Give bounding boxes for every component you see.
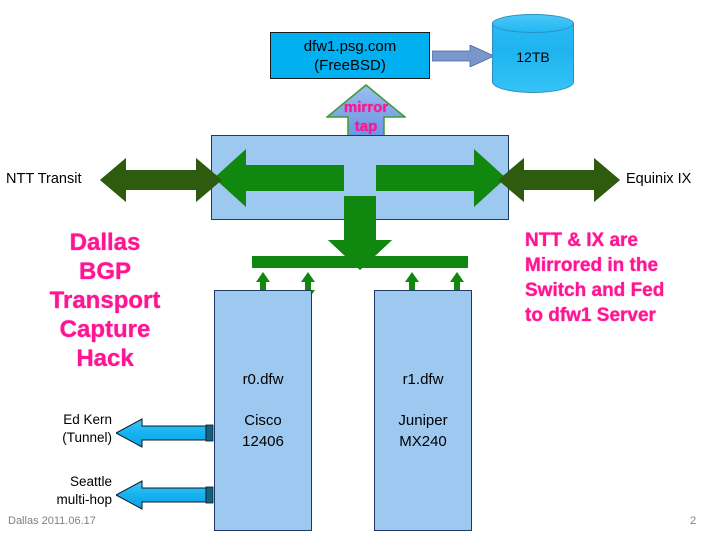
headline-line-4: Capture bbox=[10, 315, 200, 344]
mirror-tap-line1: mirror bbox=[326, 98, 406, 117]
ntt-transit-arrow-icon bbox=[100, 158, 222, 202]
storage-feed-arrow-icon bbox=[432, 45, 494, 67]
router-r0-vendor: Cisco bbox=[244, 410, 282, 431]
storage-cylinder[interactable]: 12TB bbox=[492, 14, 574, 102]
note-mirrored-explanation: NTT & IX are Mirrored in the Switch and … bbox=[525, 228, 719, 328]
footer-page-number: 2 bbox=[690, 515, 696, 527]
slide-canvas: dfw1.psg.com (FreeBSD) 12TB mirror tap N… bbox=[0, 0, 720, 540]
headline-capture-hack: Dallas BGP Transport Capture Hack bbox=[10, 228, 200, 373]
headline-line-5: Hack bbox=[10, 344, 200, 373]
label-seattle-line2: multi-hop bbox=[12, 491, 112, 509]
equinix-ix-arrow-icon bbox=[498, 158, 620, 202]
headline-line-3: Transport bbox=[10, 286, 200, 315]
mirror-tap-line2: tap bbox=[326, 117, 406, 136]
transport-switch-box[interactable] bbox=[211, 135, 509, 220]
label-seattle: Seattle multi-hop bbox=[12, 473, 112, 509]
label-ntt-transit: NTT Transit bbox=[6, 171, 81, 187]
router-r1-vendor: Juniper bbox=[398, 410, 447, 431]
mirror-tap-label: mirror tap bbox=[326, 98, 406, 136]
label-seattle-line1: Seattle bbox=[12, 473, 112, 491]
router-r0-model: 12406 bbox=[242, 431, 284, 452]
note-line-4: to dfw1 Server bbox=[525, 303, 719, 328]
footer-venue-date: Dallas 2011.06.17 bbox=[8, 515, 96, 527]
mirror-distribution-bar bbox=[252, 256, 468, 268]
seattle-multihop-arrow-icon[interactable] bbox=[116, 480, 214, 510]
headline-line-2: BGP bbox=[10, 257, 200, 286]
label-ed-kern-line2: (Tunnel) bbox=[12, 429, 112, 447]
router-r1-model: MX240 bbox=[399, 431, 447, 452]
note-line-2: Mirrored in the bbox=[525, 253, 719, 278]
ed-kern-tunnel-arrow-icon[interactable] bbox=[116, 418, 214, 448]
cylinder-top bbox=[492, 14, 574, 33]
dfw1-hostname: dfw1.psg.com bbox=[304, 37, 397, 56]
note-line-1: NTT & IX are bbox=[525, 228, 719, 253]
label-equinix-ix: Equinix IX bbox=[626, 171, 691, 187]
label-ed-kern: Ed Kern (Tunnel) bbox=[12, 411, 112, 447]
router-r0-name: r0.dfw bbox=[243, 369, 284, 390]
router-r0-box[interactable]: r0.dfw Cisco 12406 bbox=[214, 290, 312, 531]
label-ed-kern-line1: Ed Kern bbox=[12, 411, 112, 429]
router-r1-box[interactable]: r1.dfw Juniper MX240 bbox=[374, 290, 472, 531]
storage-capacity-label: 12TB bbox=[492, 49, 574, 65]
note-line-3: Switch and Fed bbox=[525, 278, 719, 303]
dfw1-os: (FreeBSD) bbox=[314, 56, 386, 75]
headline-line-1: Dallas bbox=[10, 228, 200, 257]
router-r1-name: r1.dfw bbox=[403, 369, 444, 390]
dfw1-server-box[interactable]: dfw1.psg.com (FreeBSD) bbox=[270, 32, 430, 79]
